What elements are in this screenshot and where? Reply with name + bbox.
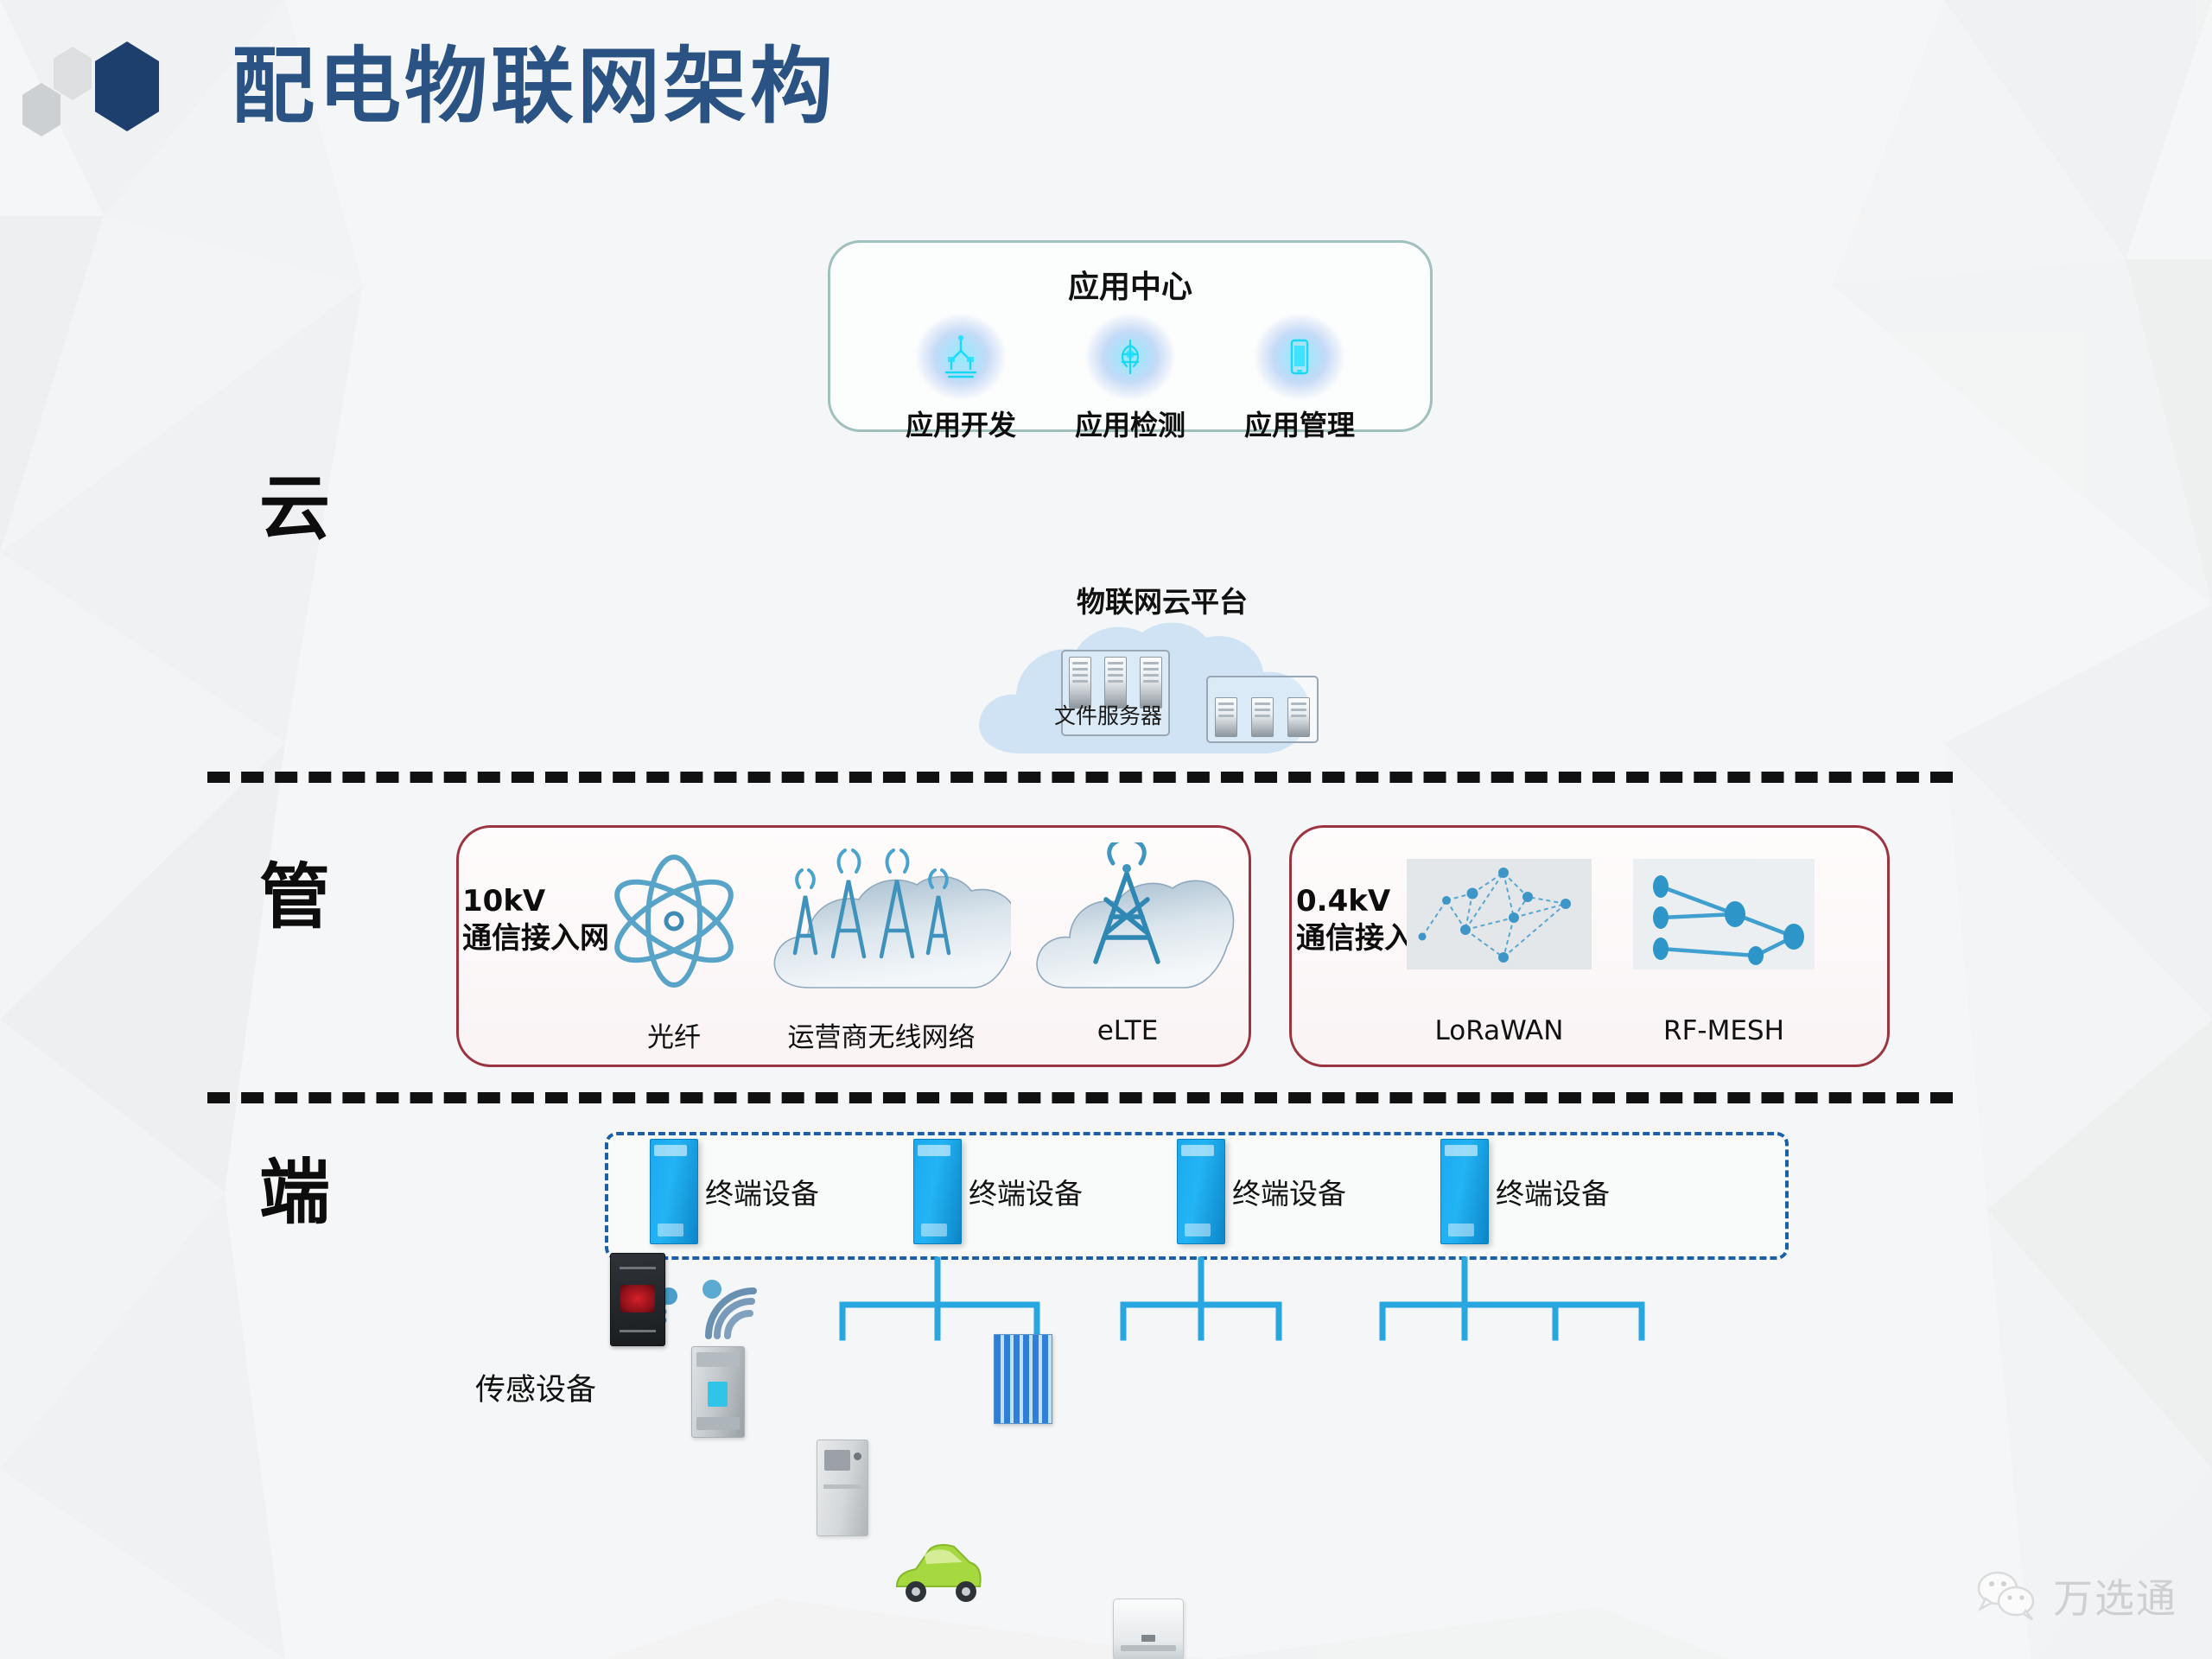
layer-label-pipe: 管 [259,862,330,933]
watermark-text: 万选通 [2053,1567,2177,1624]
terminal-device-label: 终端设备 [1232,1171,1346,1212]
terminal-device-label: 终端设备 [969,1171,1083,1212]
network-item-carrier-wireless[interactable]: 运营商无线网络 [752,842,1011,1054]
network-item-label: eLTE [1020,1015,1236,1046]
terminal-device-label: 终端设备 [705,1171,819,1212]
server-unit [1287,697,1310,737]
terminal-device-4[interactable]: 终端设备 [1440,1139,1610,1244]
network-item-label: LoRaWAN [1400,1015,1599,1046]
hexagon-logo-icon [95,41,159,131]
hexagon-logo-icon-small-a [22,83,60,137]
sensor-device-row [0,1313,2212,1486]
app-item-label: 应用管理 [1230,404,1370,443]
server-unit [1069,657,1091,709]
network-item-label: 运营商无线网络 [752,1015,1011,1054]
lorawan-mesh-icon [1400,847,1599,1011]
slide-canvas: 配电物联网架构 云 管 端 应用中心 [0,0,2212,1659]
app-management-icon [1252,314,1347,400]
fiber-atom-icon [588,847,760,1011]
application-center-items: 应用开发 应用检测 [891,314,1370,443]
app-item-label: 应用开发 [891,404,1031,443]
carrier-wireless-cloud-icon [752,842,1011,1011]
solar-panel-icon[interactable] [994,1334,1052,1424]
app-testing-icon [1083,314,1178,400]
layer-label-cloud: 云 [259,474,330,544]
application-center-title: 应用中心 [830,262,1430,307]
app-item-management[interactable]: 应用管理 [1230,314,1370,443]
network-item-label: RF-MESH [1624,1015,1823,1046]
divider-pipe-edge [207,1092,1953,1103]
app-item-development[interactable]: 应用开发 [891,314,1031,443]
terminal-device-icon [1177,1139,1225,1244]
elte-tower-cloud-icon [1020,842,1236,1011]
iot-cloud-platform: 物联网云平台 文件服务器 [959,579,1365,778]
watermark: 万选通 [1975,1567,2177,1624]
smart-controller-icon[interactable] [610,1253,665,1346]
server-unit [1215,697,1237,737]
file-server-label: 文件服务器 [1054,705,1177,728]
circuit-breaker-icon[interactable] [691,1346,745,1438]
network-item-lorawan[interactable]: LoRaWAN [1400,847,1599,1046]
page-title: 配电物联网架构 [232,41,836,133]
network-item-fiber[interactable]: 光纤 [588,847,760,1054]
network-item-label: 光纤 [588,1015,760,1054]
server-unit [1251,697,1274,737]
terminal-device-icon [1440,1139,1489,1244]
terminal-device-icon [913,1139,962,1244]
app-item-label: 应用检测 [1060,404,1200,443]
air-conditioner-icon[interactable] [1113,1599,1184,1659]
network-item-elte[interactable]: eLTE [1020,842,1236,1046]
hexagon-logo-icon-small-b [54,47,92,100]
divider-cloud-pipe [207,772,1953,783]
terminal-device-1[interactable]: 终端设备 [650,1139,819,1244]
electric-vehicle-icon[interactable] [890,1533,987,1609]
wechat-icon [1975,1569,2037,1623]
terminal-device-label: 终端设备 [1496,1171,1610,1212]
app-item-testing[interactable]: 应用检测 [1060,314,1200,443]
electricity-meter-icon[interactable] [817,1440,868,1536]
server-unit [1140,657,1162,709]
network-item-rf-mesh[interactable]: RF-MESH [1624,847,1823,1046]
application-center-panel: 应用中心 [828,240,1433,432]
terminal-device-2[interactable]: 终端设备 [913,1139,1083,1244]
terminal-device-3[interactable]: 终端设备 [1177,1139,1346,1244]
server-unit [1104,657,1127,709]
cloud-platform-title: 物联网云平台 [959,579,1365,620]
compute-server-rack [1206,676,1319,743]
layer-label-edge: 端 [259,1158,330,1229]
slide-header: 配电物联网架构 [0,0,2212,199]
app-development-icon [913,314,1008,400]
terminal-device-icon [650,1139,698,1244]
rf-mesh-icon [1624,847,1823,1011]
